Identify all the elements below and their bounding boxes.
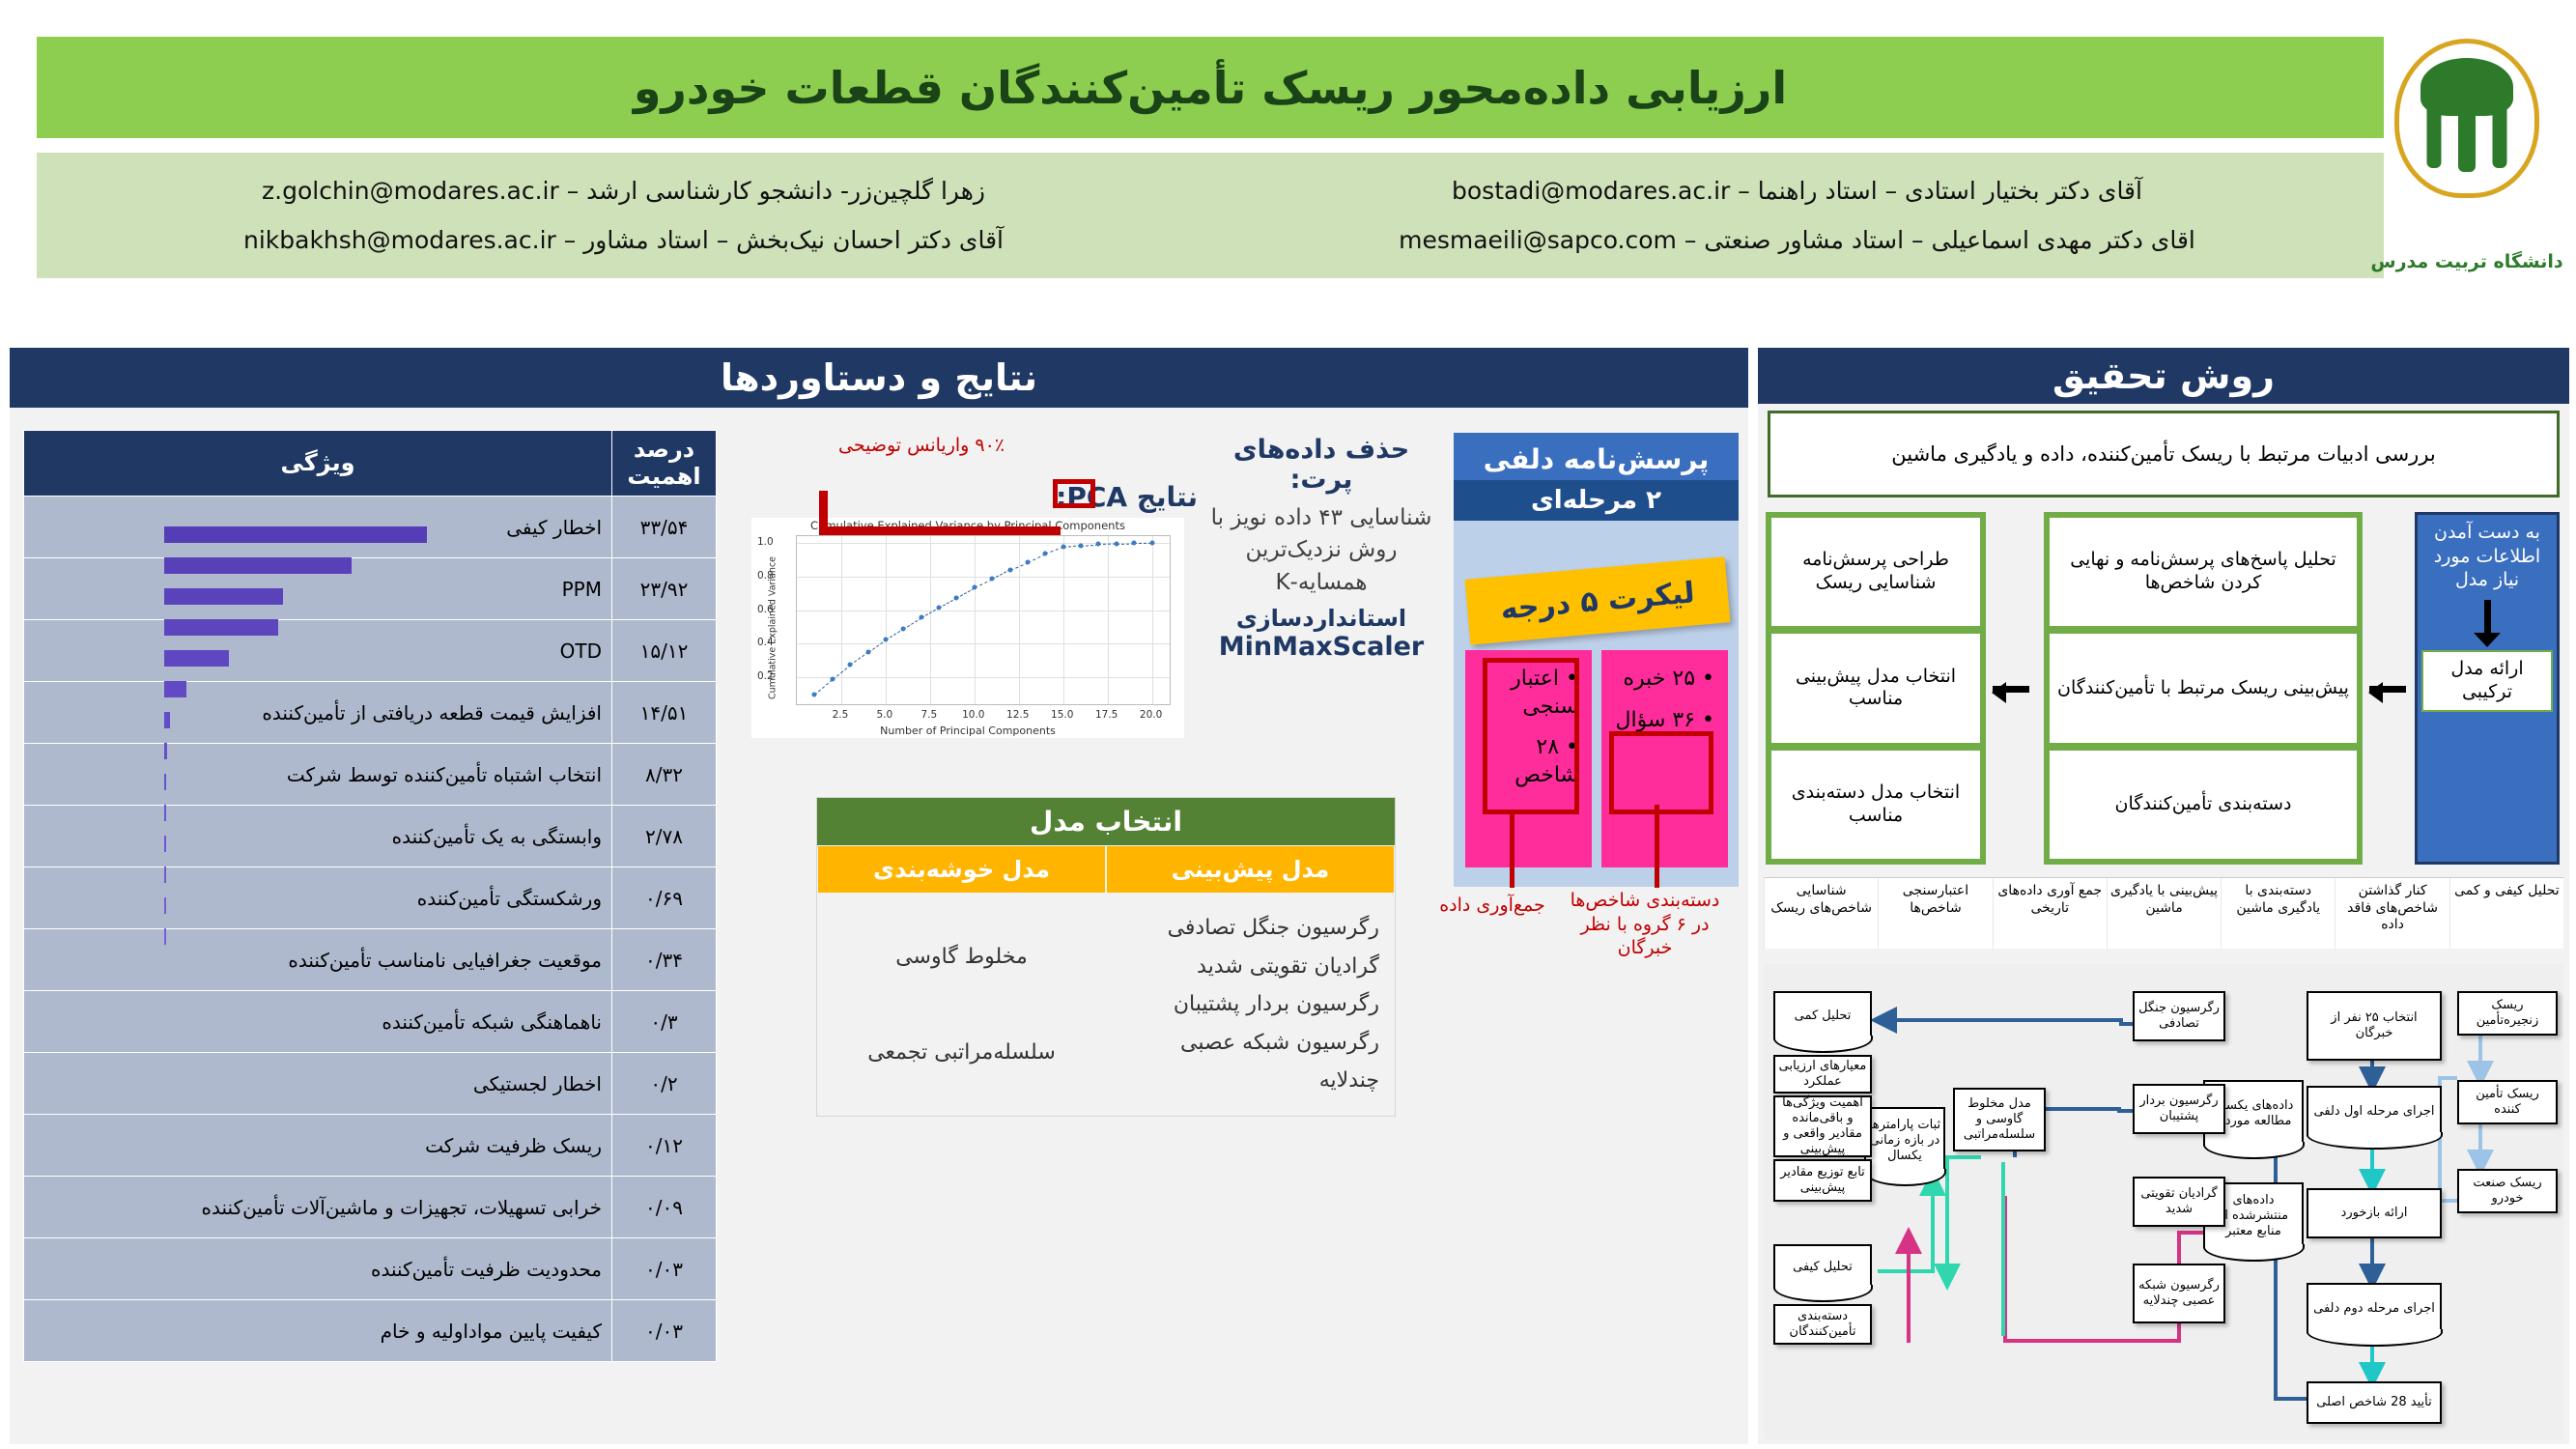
x-tick-label: 15.0 bbox=[1051, 709, 1073, 721]
pca-variance-callout: ۹۰٪ واریانس توضیحی bbox=[838, 435, 1005, 458]
cell-feature: موقعیت جغرافیایی نامناسب تأمین‌کننده bbox=[24, 929, 612, 991]
cell-feature: ورشکستگی تأمین‌کننده bbox=[24, 867, 612, 929]
gridline bbox=[975, 536, 976, 704]
y-tick-label: 0.4 bbox=[757, 637, 774, 648]
cell-percent: ۳۳/۵۴ bbox=[612, 497, 717, 558]
x-tick-label: 7.5 bbox=[920, 709, 937, 721]
data-point bbox=[1149, 540, 1154, 545]
process-step-label: جمع آوری داده‌های تاریخی bbox=[1993, 878, 2107, 949]
method-step-box: انتخاب مدل پیش‌بینی مناسب bbox=[1771, 634, 1980, 742]
process-step-label: دسته‌بندی با یادگیری ماشین bbox=[2221, 878, 2335, 949]
table-row: ۰/۲اخطار لجستیکی bbox=[24, 1053, 717, 1115]
callout-group-indicators: دسته‌بندی شاخص‌ها در ۶ گروه با نظر خبرگا… bbox=[1563, 889, 1727, 960]
gridline bbox=[886, 536, 887, 704]
process-step-label: اعتبارسنجی شاخص‌ها bbox=[1878, 878, 1992, 949]
delphi-stages: ۲ مرحله‌ای bbox=[1454, 480, 1739, 521]
delphi-questionnaire-card: پرسش‌نامه دلفی ۲ مرحله‌ای لیکرت ۵ درجه ۲… bbox=[1454, 433, 1739, 887]
flowchart-node: ریسک صنعت خودرو bbox=[2457, 1169, 2558, 1213]
table-row: ۰/۶۹ورشکستگی تأمین‌کننده bbox=[24, 867, 717, 929]
flowchart-node: ریسک تأمین کننده bbox=[2457, 1080, 2558, 1124]
y-tick-label: 0.8 bbox=[757, 570, 774, 582]
line-segment bbox=[814, 679, 833, 695]
gridline bbox=[797, 577, 1170, 578]
model-selection-table: انتخاب مدل مدل پیش‌بینی مدل خوشه‌بندی رگ… bbox=[816, 797, 1396, 1117]
method-step-box: پیش‌بینی ریسک مرتبط با تأمین‌کنندگان bbox=[2050, 634, 2357, 742]
method-step-box: تحلیل پاسخ‌های پرسش‌نامه و نهایی کردن شا… bbox=[2050, 518, 2357, 626]
list-item: سلسله‌مراتبی تجمعی bbox=[833, 1034, 1090, 1072]
data-point bbox=[990, 577, 995, 582]
data-point bbox=[1079, 543, 1084, 548]
flowchart-node: تابع توزیع مقادیر پیش‌بینی bbox=[1773, 1159, 1872, 1202]
method-column-two: تحلیل پاسخ‌های پرسش‌نامه و نهایی کردن شا… bbox=[2044, 512, 2363, 865]
method-col3-output: ارائه مدل ترکیبی bbox=[2421, 650, 2553, 712]
data-point bbox=[1007, 567, 1012, 572]
list-item: ۲۵ خبره bbox=[1611, 666, 1714, 694]
gridline bbox=[1063, 536, 1064, 704]
likert-badge: لیکرت ۵ درجه bbox=[1465, 556, 1731, 644]
contact-column-right: زهرا گلچین‌زر- دانشجو کارشناسی ارشد – z.… bbox=[37, 177, 1210, 254]
flowchart-node: تحلیل کیفی bbox=[1773, 1244, 1872, 1289]
x-tick-label: 20.0 bbox=[1140, 709, 1162, 721]
contact-line: اقای دکتر مهدی اسماعیلی – استاد مشاور صن… bbox=[1239, 226, 2355, 254]
cell-feature: ریسک ظرفیت شرکت bbox=[24, 1115, 612, 1177]
feature-importance-table: درصد اهمیت ویژگی ۳۳/۵۴اخطار کیفی۲۳/۹۲PPM… bbox=[23, 430, 717, 1362]
results-heading: نتایج و دستاوردها bbox=[10, 348, 1748, 408]
cell-feature: اخطار کیفی bbox=[24, 497, 612, 558]
method-step-box: دسته‌بندی تأمین‌کنندگان bbox=[2050, 751, 2357, 859]
cell-feature: افزایش قیمت قطعه دریافتی از تأمین‌کننده bbox=[24, 682, 612, 744]
cell-feature: انتخاب اشتباه تأمین‌کننده توسط شرکت bbox=[24, 744, 612, 806]
cluster-model-list: مخلوط گاوسیسلسله‌مراتبی تجمعی bbox=[817, 894, 1106, 1116]
data-point bbox=[954, 595, 959, 600]
arrow-down-icon bbox=[2484, 600, 2491, 633]
data-point bbox=[812, 692, 817, 696]
flowchart-node: ریسک زنجیره‌تأمین bbox=[2457, 991, 2558, 1036]
list-item: ۳۶ سؤال bbox=[1611, 707, 1714, 735]
data-point bbox=[1114, 541, 1118, 546]
table-row: ۰/۰۳محدودیت ظرفیت تأمین‌کننده bbox=[24, 1238, 717, 1300]
arrow-col3-to-col2-icon bbox=[2369, 686, 2406, 693]
flowchart-node: ثبات پارامترها در بازه زمانی یکسال bbox=[1864, 1107, 1945, 1173]
flowchart-node: انتخاب ۲۵ نفر از خبرگان bbox=[2307, 991, 2442, 1061]
cell-percent: ۸/۳۲ bbox=[612, 744, 717, 806]
process-step-label: پیش‌بینی با یادگیری ماشین bbox=[2107, 878, 2221, 949]
cell-percent: ۱۴/۵۱ bbox=[612, 682, 717, 744]
cell-percent: ۲/۷۸ bbox=[612, 806, 717, 867]
cell-feature: PPM bbox=[24, 558, 612, 620]
data-point bbox=[919, 615, 923, 620]
cell-percent: ۰/۱۲ bbox=[612, 1115, 717, 1177]
data-point bbox=[830, 676, 835, 681]
flowchart-node: مدل مخلوط گاوسی و سلسله‌مراتبی bbox=[1953, 1088, 2046, 1151]
outlier-removal-block: حذف داده‌های پرت: شناسایی ۴۳ داده نویز ب… bbox=[1210, 435, 1432, 662]
highlight-box-indicators bbox=[1483, 658, 1579, 814]
predict-model-list: رگرسیون جنگل تصادفیگرادیان تقویتی شدیدرگ… bbox=[1106, 894, 1395, 1116]
poster-root: ارزیابی داده‌محور ریسک تأمین‌کنندگان قطع… bbox=[0, 0, 2576, 1449]
table-row: ۸/۳۲انتخاب اشتباه تأمین‌کننده توسط شرکت bbox=[24, 744, 717, 806]
cell-percent: ۲۳/۹۲ bbox=[612, 558, 717, 620]
table-header-row: درصد اهمیت ویژگی bbox=[24, 431, 717, 497]
list-item: رگرسیون شبکه عصبی چندلایه bbox=[1121, 1024, 1379, 1100]
process-step-label: تحلیل کیفی و کمی bbox=[2449, 878, 2563, 949]
x-tick-label: 12.5 bbox=[1006, 709, 1029, 721]
delphi-card-validation: اعتبار سنجی ۲۸ شاخص bbox=[1465, 650, 1592, 867]
process-step-label: شناسایی شاخص‌های ریسک bbox=[1764, 878, 1878, 949]
data-point bbox=[1043, 552, 1048, 556]
data-point bbox=[1132, 541, 1137, 546]
contact-bar: آقای دکتر بختیار استادی – استاد راهنما –… bbox=[37, 153, 2384, 278]
data-point bbox=[972, 585, 977, 590]
table-row: ۳۳/۵۴اخطار کیفی bbox=[24, 497, 717, 558]
data-point bbox=[901, 626, 906, 631]
cell-feature: اخطار لجستیکی bbox=[24, 1053, 612, 1115]
cell-percent: ۰/۰۹ bbox=[612, 1177, 717, 1238]
gridline bbox=[1019, 536, 1020, 704]
outlier-heading: حذف داده‌های پرت: bbox=[1210, 435, 1432, 495]
table-row: ۰/۰۹خرابی تسهیلات، تجهیزات و ماشین‌آلات … bbox=[24, 1177, 717, 1238]
data-point bbox=[1061, 545, 1065, 550]
data-point bbox=[1025, 559, 1030, 564]
cell-feature: وابستگی به یک تأمین‌کننده bbox=[24, 806, 612, 867]
contact-line: آقای دکتر احسان نیک‌بخش – استاد مشاور – … bbox=[66, 226, 1181, 254]
flowchart-node: رگرسیون بردار پشتیبان bbox=[2133, 1084, 2225, 1134]
cell-percent: ۰/۶۹ bbox=[612, 867, 717, 929]
data-point bbox=[848, 663, 853, 668]
method-col3-title: به دست آمدن اطلاعات مورد نیاز مدل bbox=[2421, 521, 2553, 592]
gridline bbox=[1152, 536, 1153, 704]
callout-collect-data: جمع‌آوری داده bbox=[1425, 894, 1560, 918]
delphi-title: پرسش‌نامه دلفی bbox=[1454, 433, 1739, 480]
university-logo: دانشگاه تربیت مدرس bbox=[2375, 29, 2559, 280]
x-tick-label: 10.0 bbox=[962, 709, 984, 721]
flowchart-node: اجرای مرحله دوم دلفی bbox=[2307, 1283, 2442, 1333]
delphi-card-sample: ۲۵ خبره ۳۶ سؤال bbox=[1601, 650, 1728, 867]
method-step-box: انتخاب مدل دسته‌بندی مناسب bbox=[1771, 751, 1980, 859]
gridline bbox=[841, 536, 842, 704]
data-point bbox=[1096, 542, 1101, 547]
x-tick-label: 17.5 bbox=[1095, 709, 1118, 721]
model-selection-body: رگرسیون جنگل تصادفیگرادیان تقویتی شدیدرگ… bbox=[817, 894, 1395, 1116]
gridline bbox=[797, 677, 1170, 678]
arrow-col2-to-col1-icon bbox=[1993, 686, 2029, 693]
gridline bbox=[930, 536, 931, 704]
cell-feature: محدودیت ظرفیت تأمین‌کننده bbox=[24, 1238, 612, 1300]
literature-review-box: بررسی ادبیات مرتبط با ریسک تأمین‌کننده، … bbox=[1768, 411, 2560, 497]
delphi-pink-cards: ۲۵ خبره ۳۶ سؤال اعتبار سنجی ۲۸ شاخص bbox=[1465, 650, 1728, 867]
flowchart-node: معیارهای ارزیابی عملکرد bbox=[1773, 1055, 1872, 1094]
flowchart-node: رگرسیون جنگل تصادفی bbox=[2133, 991, 2225, 1041]
col-header-predict: مدل پیش‌بینی bbox=[1106, 845, 1395, 894]
callout-stem-right bbox=[1655, 805, 1659, 888]
y-tick-label: 0.2 bbox=[757, 670, 774, 682]
list-item: رگرسیون بردار پشتیبان bbox=[1121, 985, 1379, 1024]
method-steps-row: تحلیل کیفی و کمیکنار گذاشتن شاخص‌های فاق… bbox=[1764, 877, 2563, 949]
y-tick-label: 0.6 bbox=[757, 604, 774, 615]
chart-xlabel: Number of Principal Components bbox=[751, 724, 1184, 737]
logo-foliage-icon bbox=[2420, 58, 2513, 116]
chart-plot-area bbox=[796, 535, 1171, 705]
col-header-percent: درصد اهمیت bbox=[612, 431, 717, 497]
col-header-cluster: مدل خوشه‌بندی bbox=[817, 845, 1106, 894]
x-tick-label: 2.5 bbox=[833, 709, 849, 721]
pca-chart: Cumulative Explained Variance by Princip… bbox=[751, 518, 1184, 738]
flowchart-node: ارائه بازخورد bbox=[2307, 1188, 2442, 1238]
flowchart-node: اجرای مرحله اول دلفی bbox=[2307, 1086, 2442, 1136]
highlight-box-questions bbox=[1609, 731, 1713, 814]
feature-table-body: ۳۳/۵۴اخطار کیفی۲۳/۹۲PPM۱۵/۱۲OTD۱۴/۵۱افزا… bbox=[24, 497, 717, 1362]
process-step-label: کنار گذاشتن شاخص‌های فاقد داده bbox=[2335, 878, 2449, 949]
list-item: مخلوط گاوسی bbox=[833, 938, 1090, 977]
table-row: ۲/۷۸وابستگی به یک تأمین‌کننده bbox=[24, 806, 717, 867]
flowchart-node: گرادیان تقویتی شدید bbox=[2133, 1177, 2225, 1227]
callout-stem-left bbox=[1510, 814, 1514, 888]
data-point bbox=[937, 605, 942, 610]
flowchart-node: دسته‌بندی تأمین‌کنندگان bbox=[1773, 1304, 1872, 1345]
gridline bbox=[1108, 536, 1109, 704]
method-panel: روش تحقیق بررسی ادبیات مرتبط با ریسک تأم… bbox=[1758, 348, 2569, 1444]
pca-highlight-box bbox=[1053, 479, 1095, 508]
cell-percent: ۰/۰۳ bbox=[612, 1300, 717, 1362]
cell-percent: ۰/۲ bbox=[612, 1053, 717, 1115]
cell-feature: کیفیت پایین مواداولیه و خام bbox=[24, 1300, 612, 1362]
model-selection-subheaders: مدل پیش‌بینی مدل خوشه‌بندی bbox=[817, 845, 1395, 894]
cell-feature: OTD bbox=[24, 620, 612, 682]
table-row: ۱۵/۱۲OTD bbox=[24, 620, 717, 682]
table-row: ۲۳/۹۲PPM bbox=[24, 558, 717, 620]
table-row: ۰/۳۴موقعیت جغرافیایی نامناسب تأمین‌کننده bbox=[24, 929, 717, 991]
detailed-flowchart: ریسک زنجیره‌تأمینریسک تأمین کنندهریسک صن… bbox=[1764, 964, 2563, 1439]
contact-column-left: آقای دکتر بختیار استادی – استاد راهنما –… bbox=[1210, 177, 2384, 254]
x-tick-label: 5.0 bbox=[877, 709, 893, 721]
cell-percent: ۱۵/۱۲ bbox=[612, 620, 717, 682]
y-tick-label: 1.0 bbox=[757, 536, 774, 548]
list-item: گرادیان تقویتی شدید bbox=[1121, 948, 1379, 986]
cell-percent: ۰/۰۳ bbox=[612, 1238, 717, 1300]
table-row: ۰/۰۳کیفیت پایین مواداولیه و خام bbox=[24, 1300, 717, 1362]
data-point bbox=[865, 650, 870, 655]
page-title: ارزیابی داده‌محور ریسک تأمین‌کنندگان قطع… bbox=[634, 62, 1787, 114]
flowchart-node: تحلیل کمی bbox=[1773, 991, 1872, 1039]
method-heading: روش تحقیق bbox=[1758, 348, 2569, 404]
pca-block: ۹۰٪ واریانس توضیحی نتایج PCA: Cumulative… bbox=[744, 433, 1198, 752]
flowchart-node: تأیید 28 شاخص اصلی bbox=[2307, 1381, 2442, 1424]
method-column-three: به دست آمدن اطلاعات مورد نیاز مدل ارائه … bbox=[2415, 512, 2560, 865]
gridline bbox=[797, 643, 1170, 644]
list-item: رگرسیون جنگل تصادفی bbox=[1121, 909, 1379, 948]
table-row: ۰/۳ناهماهنگی شبکه تأمین‌کننده bbox=[24, 991, 717, 1053]
flowchart-node: رگرسیون شبکه عصبی چندلایه bbox=[2133, 1264, 2225, 1323]
contact-line: آقای دکتر بختیار استادی – استاد راهنما –… bbox=[1239, 177, 2355, 205]
literature-review-text: بررسی ادبیات مرتبط با ریسک تأمین‌کننده، … bbox=[1891, 442, 2435, 466]
logo-name: دانشگاه تربیت مدرس bbox=[2370, 251, 2562, 272]
flowchart-node: اهمیت ویژگی‌ها و باقی‌مانده مقادیر واقعی… bbox=[1773, 1095, 1872, 1157]
results-panel: نتایج و دستاوردها درصد اهمیت ویژگی ۳۳/۵۴… bbox=[10, 348, 1748, 1444]
cell-feature: ناهماهنگی شبکه تأمین‌کننده bbox=[24, 991, 612, 1053]
poster-title-bar: ارزیابی داده‌محور ریسک تأمین‌کنندگان قطع… bbox=[37, 37, 2384, 138]
outlier-line-1: شناسایی ۴۳ داده نویز با روش نزدیک‌ترین ه… bbox=[1210, 502, 1432, 599]
col-header-feature: ویژگی bbox=[24, 431, 612, 497]
contact-line: زهرا گلچین‌زر- دانشجو کارشناسی ارشد – z.… bbox=[66, 177, 1181, 205]
table-row: ۱۴/۵۱افزایش قیمت قطعه دریافتی از تأمین‌ک… bbox=[24, 682, 717, 744]
method-column-one: طراحی پرسش‌نامه شناسایی ریسکانتخاب مدل پ… bbox=[1766, 512, 1986, 865]
cell-percent: ۰/۳ bbox=[612, 991, 717, 1053]
table-row: ۰/۱۲ریسک ظرفیت شرکت bbox=[24, 1115, 717, 1177]
cell-percent: ۰/۳۴ bbox=[612, 929, 717, 991]
pca-callout-bracket bbox=[819, 491, 1061, 535]
data-point bbox=[883, 638, 888, 642]
cell-feature: خرابی تسهیلات، تجهیزات و ماشین‌آلات تأمی… bbox=[24, 1177, 612, 1238]
outlier-line-3: MinMaxScaler bbox=[1210, 632, 1432, 662]
method-step-box: طراحی پرسش‌نامه شناسایی ریسک bbox=[1771, 518, 1980, 626]
model-selection-title: انتخاب مدل bbox=[817, 798, 1395, 845]
outlier-line-2: استانداردسازی bbox=[1210, 605, 1432, 632]
gridline bbox=[797, 611, 1170, 611]
